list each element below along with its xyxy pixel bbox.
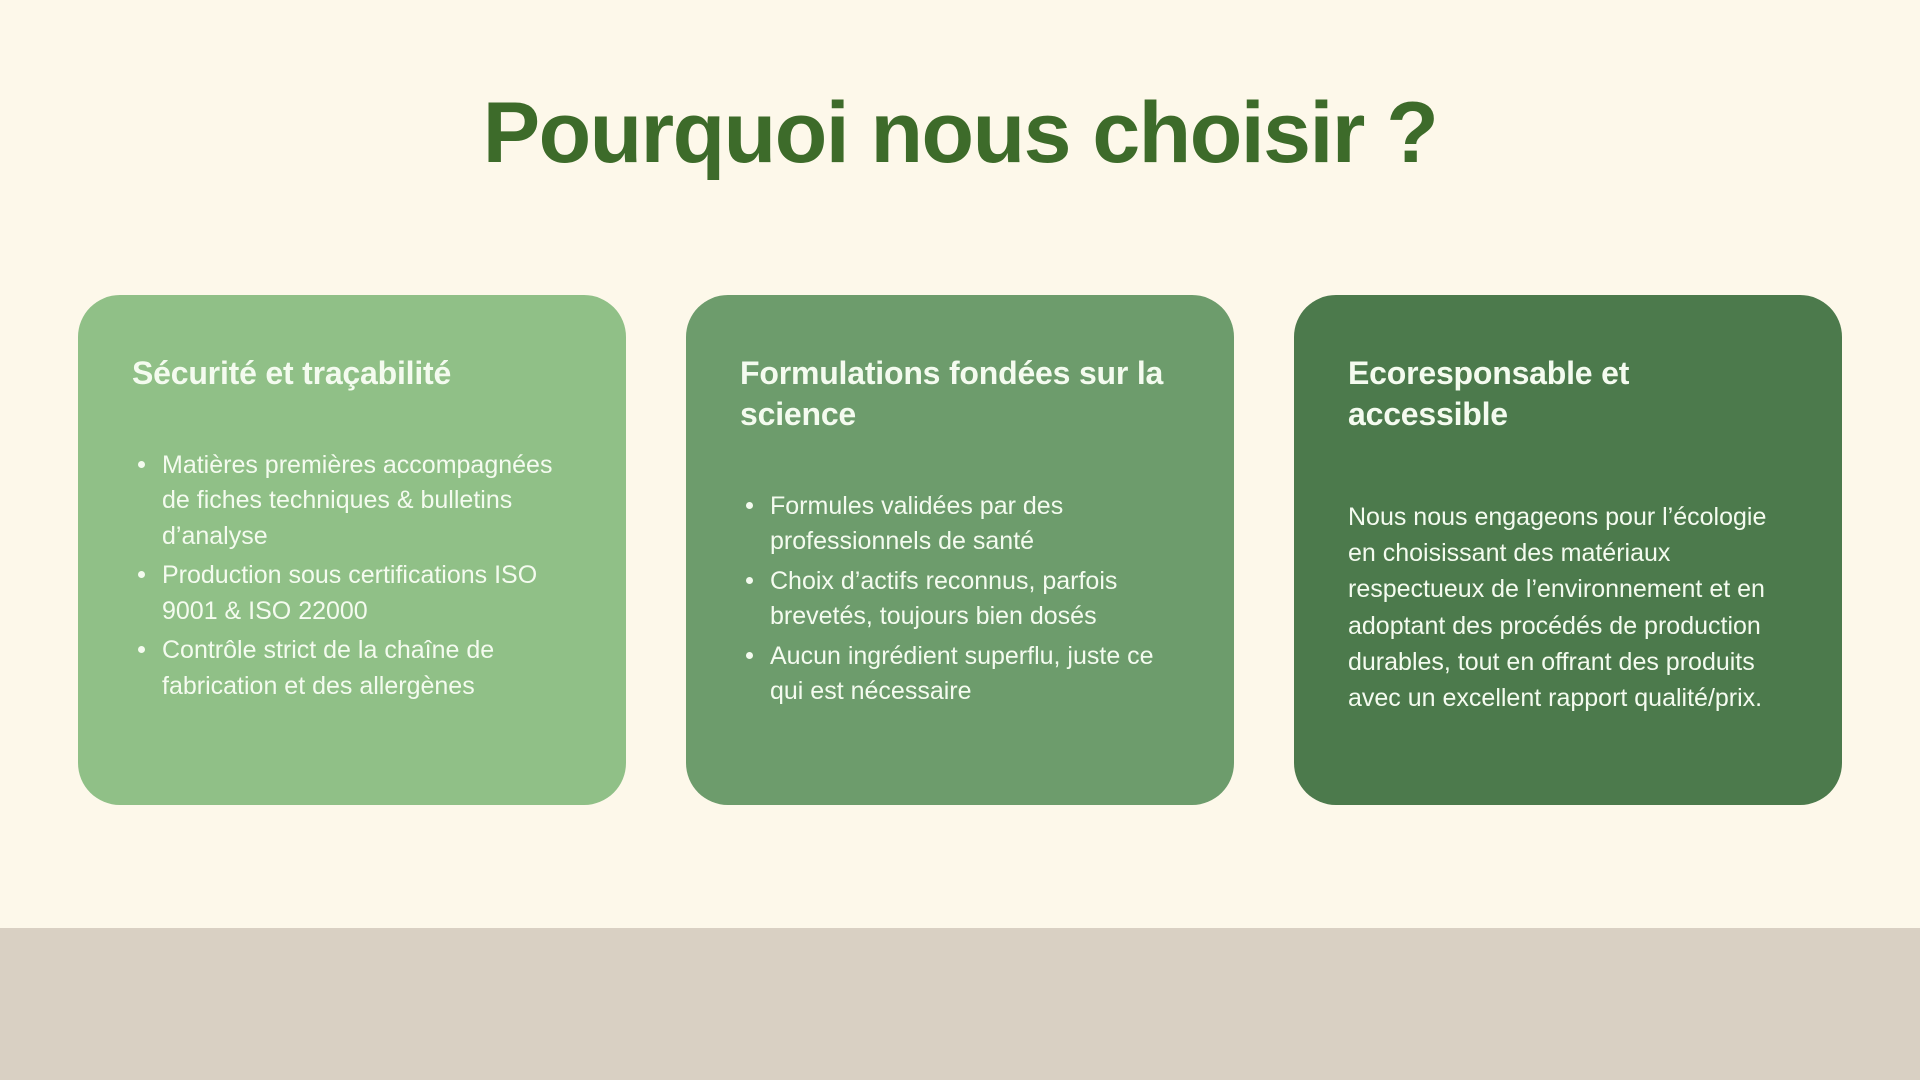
list-item-text: Production sous certifications ISO 9001 …	[162, 561, 537, 625]
card-title: Ecoresponsable et accessible	[1348, 353, 1788, 435]
feature-card-formulations: Formulations fondées sur la science Form…	[686, 295, 1234, 805]
bullet-dot-icon	[138, 646, 145, 653]
list-item-text: Choix d’actifs reconnus, parfois breveté…	[770, 567, 1117, 631]
page-title: Pourquoi nous choisir ?	[0, 88, 1920, 178]
list-item-text: Contrôle strict de la chaîne de fabricat…	[162, 636, 494, 700]
list-item: Choix d’actifs reconnus, parfois breveté…	[740, 564, 1180, 635]
bullet-dot-icon	[746, 652, 753, 659]
list-item-text: Matières premières accompagnées de fiche…	[162, 451, 552, 550]
card-bullet-list: Formules validées par des professionnels…	[740, 489, 1180, 710]
bullet-dot-icon	[746, 577, 753, 584]
feature-card-ecoresponsable: Ecoresponsable et accessible Nous nous e…	[1294, 295, 1842, 805]
feature-card-securite: Sécurité et traçabilité Matières premièr…	[78, 295, 626, 805]
list-item: Contrôle strict de la chaîne de fabricat…	[132, 633, 572, 704]
card-body: Formules validées par des professionnels…	[740, 489, 1180, 714]
bullet-dot-icon	[138, 571, 145, 578]
list-item-text: Aucun ingrédient superflu, juste ce qui …	[770, 642, 1154, 706]
card-title: Formulations fondées sur la science	[740, 353, 1180, 435]
card-body: Nous nous engageons pour l’écologie en c…	[1348, 499, 1788, 717]
bullet-dot-icon	[138, 461, 145, 468]
card-title: Sécurité et traçabilité	[132, 353, 572, 394]
bottom-band	[0, 928, 1920, 1080]
list-item: Matières premières accompagnées de fiche…	[132, 448, 572, 555]
card-paragraph: Nous nous engageons pour l’écologie en c…	[1348, 499, 1788, 717]
feature-card-group: Sécurité et traçabilité Matières premièr…	[78, 295, 1842, 805]
card-body: Matières premières accompagnées de fiche…	[132, 448, 572, 709]
card-bullet-list: Matières premières accompagnées de fiche…	[132, 448, 572, 705]
list-item: Formules validées par des professionnels…	[740, 489, 1180, 560]
bullet-dot-icon	[746, 502, 753, 509]
list-item-text: Formules validées par des professionnels…	[770, 492, 1063, 556]
list-item: Aucun ingrédient superflu, juste ce qui …	[740, 639, 1180, 710]
list-item: Production sous certifications ISO 9001 …	[132, 558, 572, 629]
slide-canvas: Pourquoi nous choisir ? Sécurité et traç…	[0, 0, 1920, 1080]
